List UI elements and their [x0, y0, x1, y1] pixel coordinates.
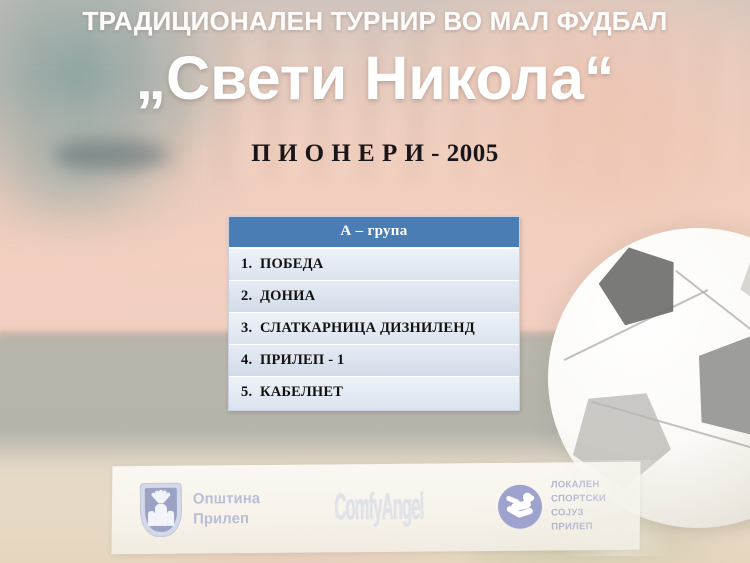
- row-team-name: ДОНИА: [260, 288, 315, 304]
- tournament-main-title: „Свети Никола“: [0, 48, 750, 109]
- prilep-coat-of-arms-icon: [140, 483, 182, 537]
- table-row: 1.ПОБЕДА: [229, 249, 519, 281]
- row-team-name: КАБЕЛНЕТ: [260, 384, 343, 400]
- presentation-slide: ТРАДИЦИОНАЛЕН ТУРНИР ВО МАЛ ФУДБАЛ „Свет…: [0, 0, 750, 563]
- row-number: 2.: [241, 288, 260, 305]
- tournament-kicker-title: ТРАДИЦИОНАЛЕН ТУРНИР ВО МАЛ ФУДБАЛ: [0, 6, 750, 37]
- row-team-name: СЛАТКАРНИЦА ДИЗНИЛЕНД: [260, 320, 475, 336]
- municipality-line-1: Општина: [193, 489, 260, 510]
- table-row: 3.СЛАТКАРНИЦА ДИЗНИЛЕНД: [229, 313, 519, 345]
- municipality-line-2: Прилеп: [193, 509, 260, 530]
- municipality-label: Општина Прилеп: [193, 489, 261, 530]
- table-row: 2.ДОНИА: [229, 281, 519, 313]
- sports-union-line-3: СОЈУЗ: [551, 506, 606, 520]
- sports-union-line-4: ПРИЛЕП: [551, 520, 606, 534]
- row-team-name: ПРИЛЕП - 1: [260, 352, 345, 368]
- group-a-table: А – група 1.ПОБЕДА 2.ДОНИА 3.СЛАТКАРНИЦА…: [228, 216, 520, 411]
- sponsor-logo-municipality: Општина Прилеп: [140, 482, 261, 537]
- sports-union-label: ЛОКАЛЕН СПОРТСКИ СОЈУЗ ПРИЛЕП: [551, 478, 606, 534]
- table-row: 4.ПРИЛЕП - 1: [229, 345, 519, 377]
- row-number: 3.: [241, 320, 260, 337]
- ball-pentagon: [683, 321, 750, 443]
- sponsor-banner: Општина Прилеп ComfyAngel ЛОКАЛЕН СПОРТС…: [112, 462, 641, 555]
- sports-union-line-2: СПОРТСКИ: [551, 492, 606, 506]
- sponsor-logo-sports-union: ЛОКАЛЕН СПОРТСКИ СОЈУЗ ПРИЛЕП: [498, 478, 606, 534]
- row-team-name: ПОБЕДА: [260, 256, 323, 272]
- category-subtitle: П И О Н Е Р И - 2005: [0, 140, 750, 168]
- row-number: 1.: [241, 256, 260, 273]
- table-header-group-a: А – група: [229, 217, 519, 249]
- table-row: 5.КАБЕЛНЕТ: [229, 377, 519, 410]
- sports-union-line-1: ЛОКАЛЕН: [551, 478, 606, 492]
- row-number: 4.: [241, 352, 260, 369]
- running-figure-icon: [498, 485, 542, 529]
- row-number: 5.: [241, 384, 260, 401]
- sponsor-logo-comfyangel: ComfyAngel: [314, 486, 445, 530]
- background-teal-glow-left-lower: [0, 95, 170, 245]
